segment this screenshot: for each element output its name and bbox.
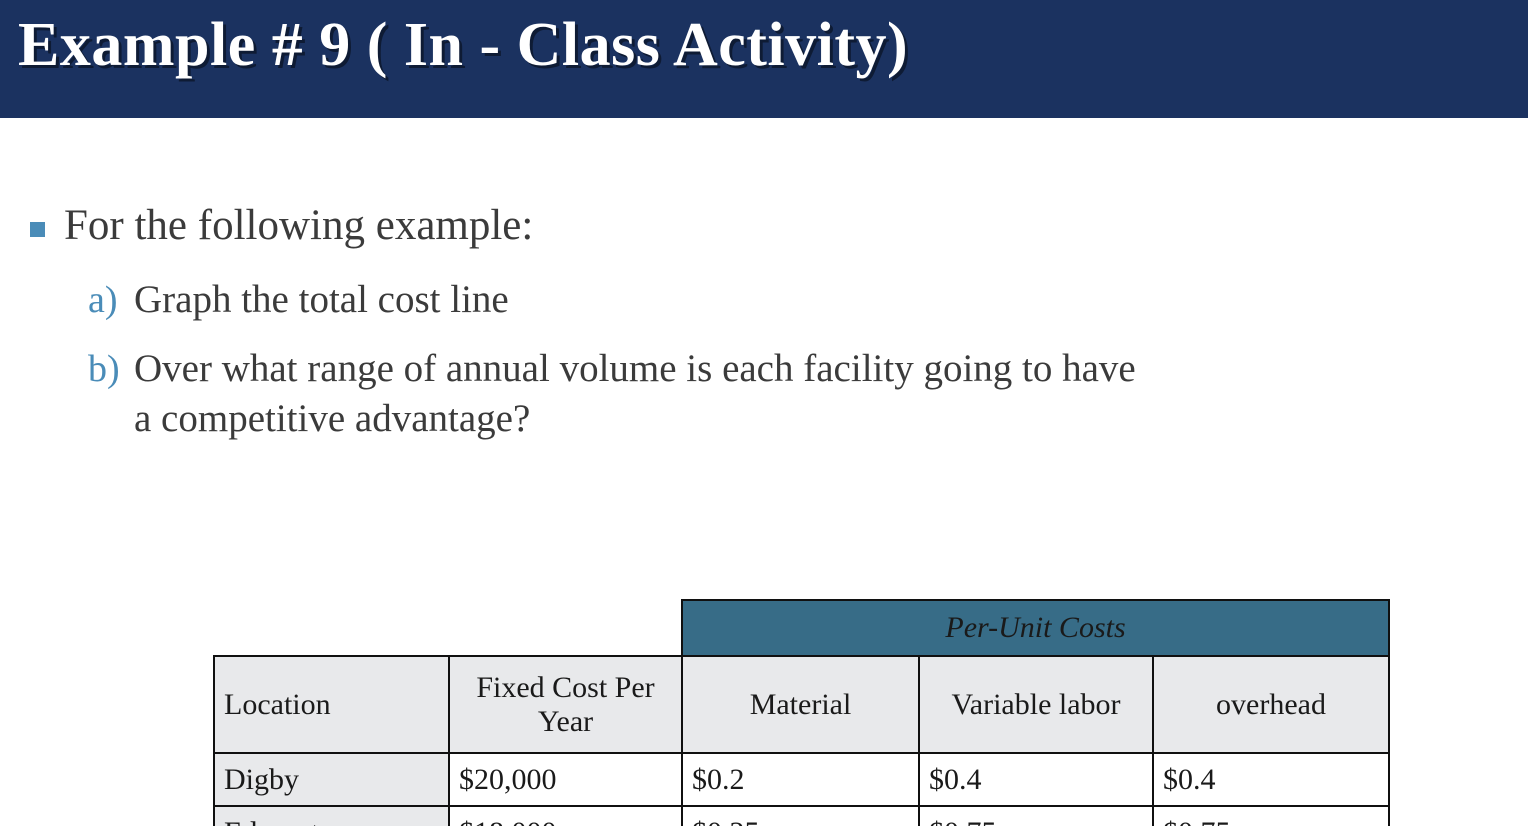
sub-item-a-text: Graph the total cost line xyxy=(134,275,509,325)
column-header-material: Material xyxy=(682,656,919,753)
table-group-header-row: Per-Unit Costs xyxy=(214,600,1389,656)
sub-item-b-text: Over what range of annual volume is each… xyxy=(134,344,1154,444)
sub-item-a-marker: a) xyxy=(88,275,134,325)
cell-location-edmonton: Edmonton xyxy=(214,806,449,826)
column-header-overhead: overhead xyxy=(1153,656,1389,753)
cell-location-digby: Digby xyxy=(214,753,449,806)
cell-fixed-cost-digby: $20,000 xyxy=(449,753,682,806)
sub-item-b: b) Over what range of annual volume is e… xyxy=(88,344,1154,444)
sub-item-a: a) Graph the total cost line xyxy=(88,275,509,325)
column-header-variable-labor: Variable labor xyxy=(919,656,1153,753)
cell-overhead-digby: $0.4 xyxy=(1153,753,1389,806)
cell-overhead-edmonton: $0.75 xyxy=(1153,806,1389,826)
slide-canvas: Example # 9 ( In - Class Activity) For t… xyxy=(0,0,1528,826)
page-title: Example # 9 ( In - Class Activity) xyxy=(18,2,908,88)
slide-body: For the following example: a) Graph the … xyxy=(0,118,1528,826)
group-header-spacer-1 xyxy=(214,600,449,656)
square-bullet-icon xyxy=(30,222,45,237)
column-header-fixed-cost: Fixed Cost Per Year xyxy=(449,656,682,753)
cost-table-wrapper: Per-Unit Costs Location Fixed Cost Per Y… xyxy=(213,599,1388,826)
cell-material-digby: $0.2 xyxy=(682,753,919,806)
cell-variable-labor-edmonton: $0.75 xyxy=(919,806,1153,826)
table-row: Edmonton $18,000 $0.25 $0.75 $0.75 xyxy=(214,806,1389,826)
slide-title-bar: Example # 9 ( In - Class Activity) xyxy=(0,0,1528,118)
sub-item-b-marker: b) xyxy=(88,344,134,394)
table-header-row: Location Fixed Cost Per Year Material Va… xyxy=(214,656,1389,753)
group-header-spacer-2 xyxy=(449,600,682,656)
lead-in-text: For the following example: xyxy=(64,200,533,252)
cost-table: Per-Unit Costs Location Fixed Cost Per Y… xyxy=(213,599,1390,826)
table-row: Digby $20,000 $0.2 $0.4 $0.4 xyxy=(214,753,1389,806)
bullet-item-lead-in: For the following example: xyxy=(30,200,533,252)
cell-fixed-cost-edmonton: $18,000 xyxy=(449,806,682,826)
cell-variable-labor-digby: $0.4 xyxy=(919,753,1153,806)
group-header-per-unit-costs: Per-Unit Costs xyxy=(682,600,1389,656)
cell-material-edmonton: $0.25 xyxy=(682,806,919,826)
column-header-location: Location xyxy=(214,656,449,753)
